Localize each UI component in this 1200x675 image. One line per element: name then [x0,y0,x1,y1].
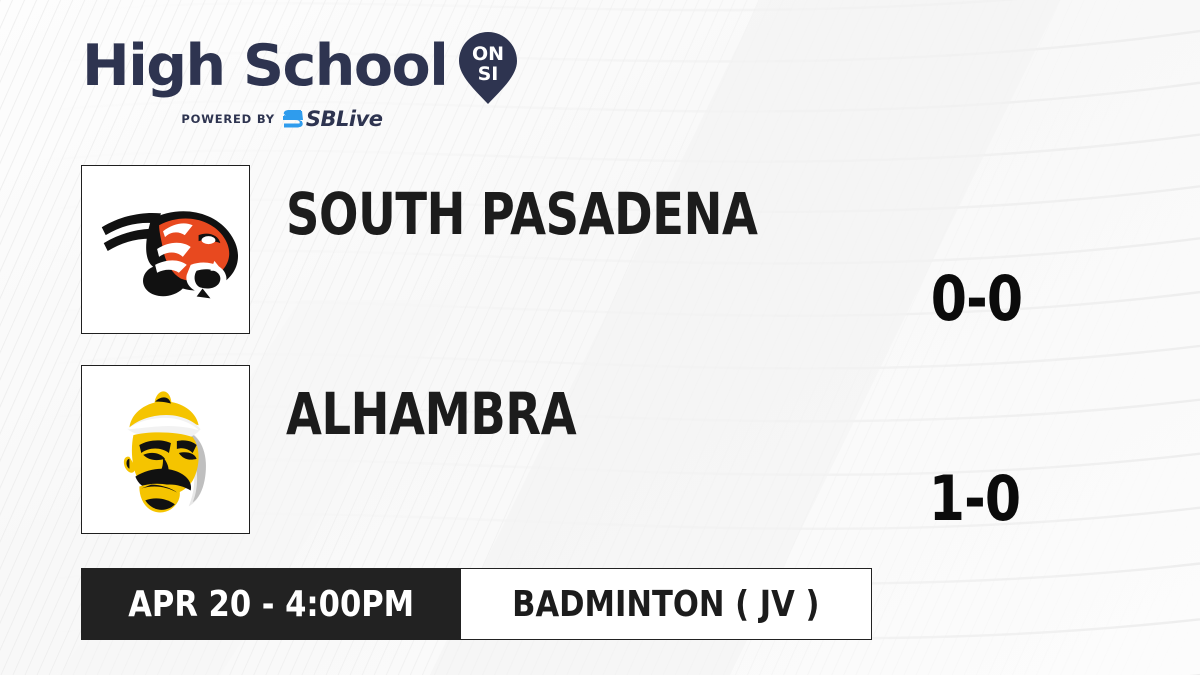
brand-block: High School ON SI POWERED BY SBLive [82,34,512,134]
sblive-s-icon [282,109,304,129]
moor-head-logo [81,365,250,534]
team-name: ALHAMBRA [286,380,576,448]
team-record: 1-0 [929,462,1021,535]
team-name: SOUTH PASADENA [286,180,758,248]
page-title: High School [82,34,447,98]
on-si-pin-icon: ON SI [457,30,519,106]
game-sport-label: BADMINTON ( JV ) [512,584,819,625]
game-datetime-label: APR 20 - 4:00PM [128,584,414,625]
svg-text:SI: SI [478,63,499,85]
powered-by-label: POWERED BY [181,112,274,126]
sblive-wordmark: SBLive [306,107,383,131]
brand-wordmark-row: High School ON SI [82,34,512,98]
tiger-head-logo [81,165,250,334]
game-info-bar: APR 20 - 4:00PM BADMINTON ( JV ) [81,568,872,640]
team-record: 0-0 [931,262,1023,335]
svg-text:ON: ON [472,43,504,65]
scoreboard-graphic: High School ON SI POWERED BY SBLive [0,0,1200,675]
powered-by-row: POWERED BY SBLive [82,107,482,131]
game-sport-chip: BADMINTON ( JV ) [461,568,872,640]
game-datetime-chip: APR 20 - 4:00PM [81,568,461,640]
sblive-logo: SBLive [282,107,383,131]
